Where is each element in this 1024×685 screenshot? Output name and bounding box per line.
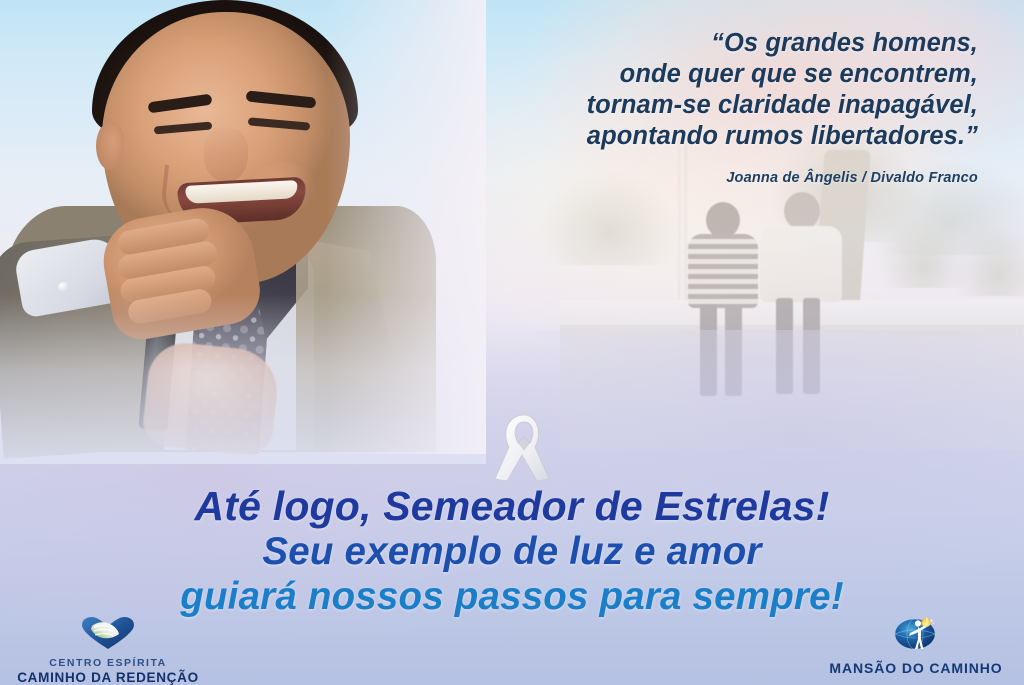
headline-line-1: Até logo, Semeador de Estrelas! [0,486,1024,527]
white-mourning-ribbon [489,409,559,487]
quote-line-1: “Os grandes homens, [418,28,978,59]
figure-torso [760,226,842,302]
teeth [185,180,298,204]
logo-right-line-1: MANSÃO DO CAMINHO [816,660,1016,676]
quote-text: “Os grandes homens, onde quer que se enc… [418,28,978,152]
palm-shrub-two [952,224,1024,296]
nose [204,128,248,182]
portrait-of-smiling-elderly-man-with-microphone [0,0,466,444]
quote-author: Joanna de Ângelis / Divaldo Franco [726,170,978,186]
figure-head [706,202,740,238]
cuff-button [58,282,69,293]
logo-left-line-1: CENTRO ESPÍRITA [8,657,208,669]
figure-head [784,192,820,230]
background-foliage-left [540,170,680,265]
globe-torch-figure-icon [816,612,1016,657]
headline: Até logo, Semeador de Estrelas! Seu exem… [0,486,1024,616]
headline-line-2: Seu exemplo de luz e amor [0,533,1024,572]
heart-hand-icon [8,616,208,655]
logo-centro-espirita-caminho-da-redencao[interactable]: CENTRO ESPÍRITA CAMINHO DA REDENÇÃO [8,616,208,685]
quote-line-3: tornam-se claridade inapagável, [418,90,978,121]
logo-mansao-do-caminho[interactable]: MANSÃO DO CAMINHO [816,612,1016,676]
quote-line-4: apontando rumos libertadores.” [418,121,978,152]
memorial-poster: “Os grandes homens, onde quer que se enc… [0,0,1024,685]
logo-left-line-2: CAMINHO DA REDENÇÃO [8,670,208,685]
figure-torso [688,234,758,308]
quote-line-2: onde quer que se encontrem, [418,59,978,90]
headline-line-3: guiará nossos passos para sempre! [0,578,1024,617]
ear [96,122,124,170]
